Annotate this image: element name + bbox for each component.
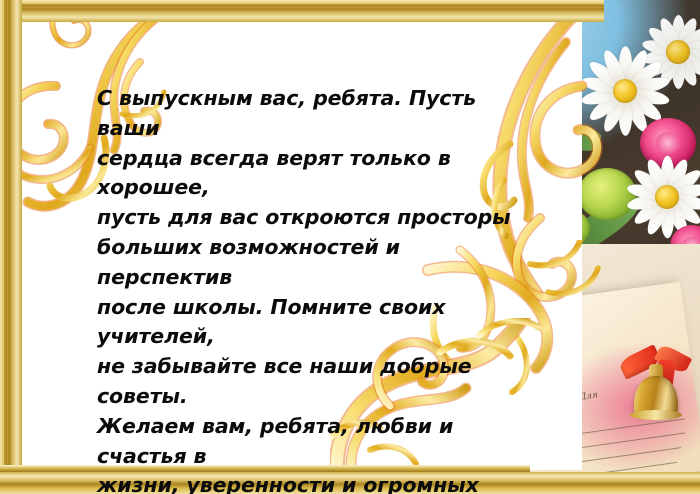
frame-left-inner-line — [4, 0, 7, 470]
greeting-message: С выпускным вас, ребята. Пусть ваши серд… — [97, 84, 517, 494]
frame-top-inner-line — [0, 4, 604, 7]
greeting-card: Для Учени — [0, 0, 700, 494]
